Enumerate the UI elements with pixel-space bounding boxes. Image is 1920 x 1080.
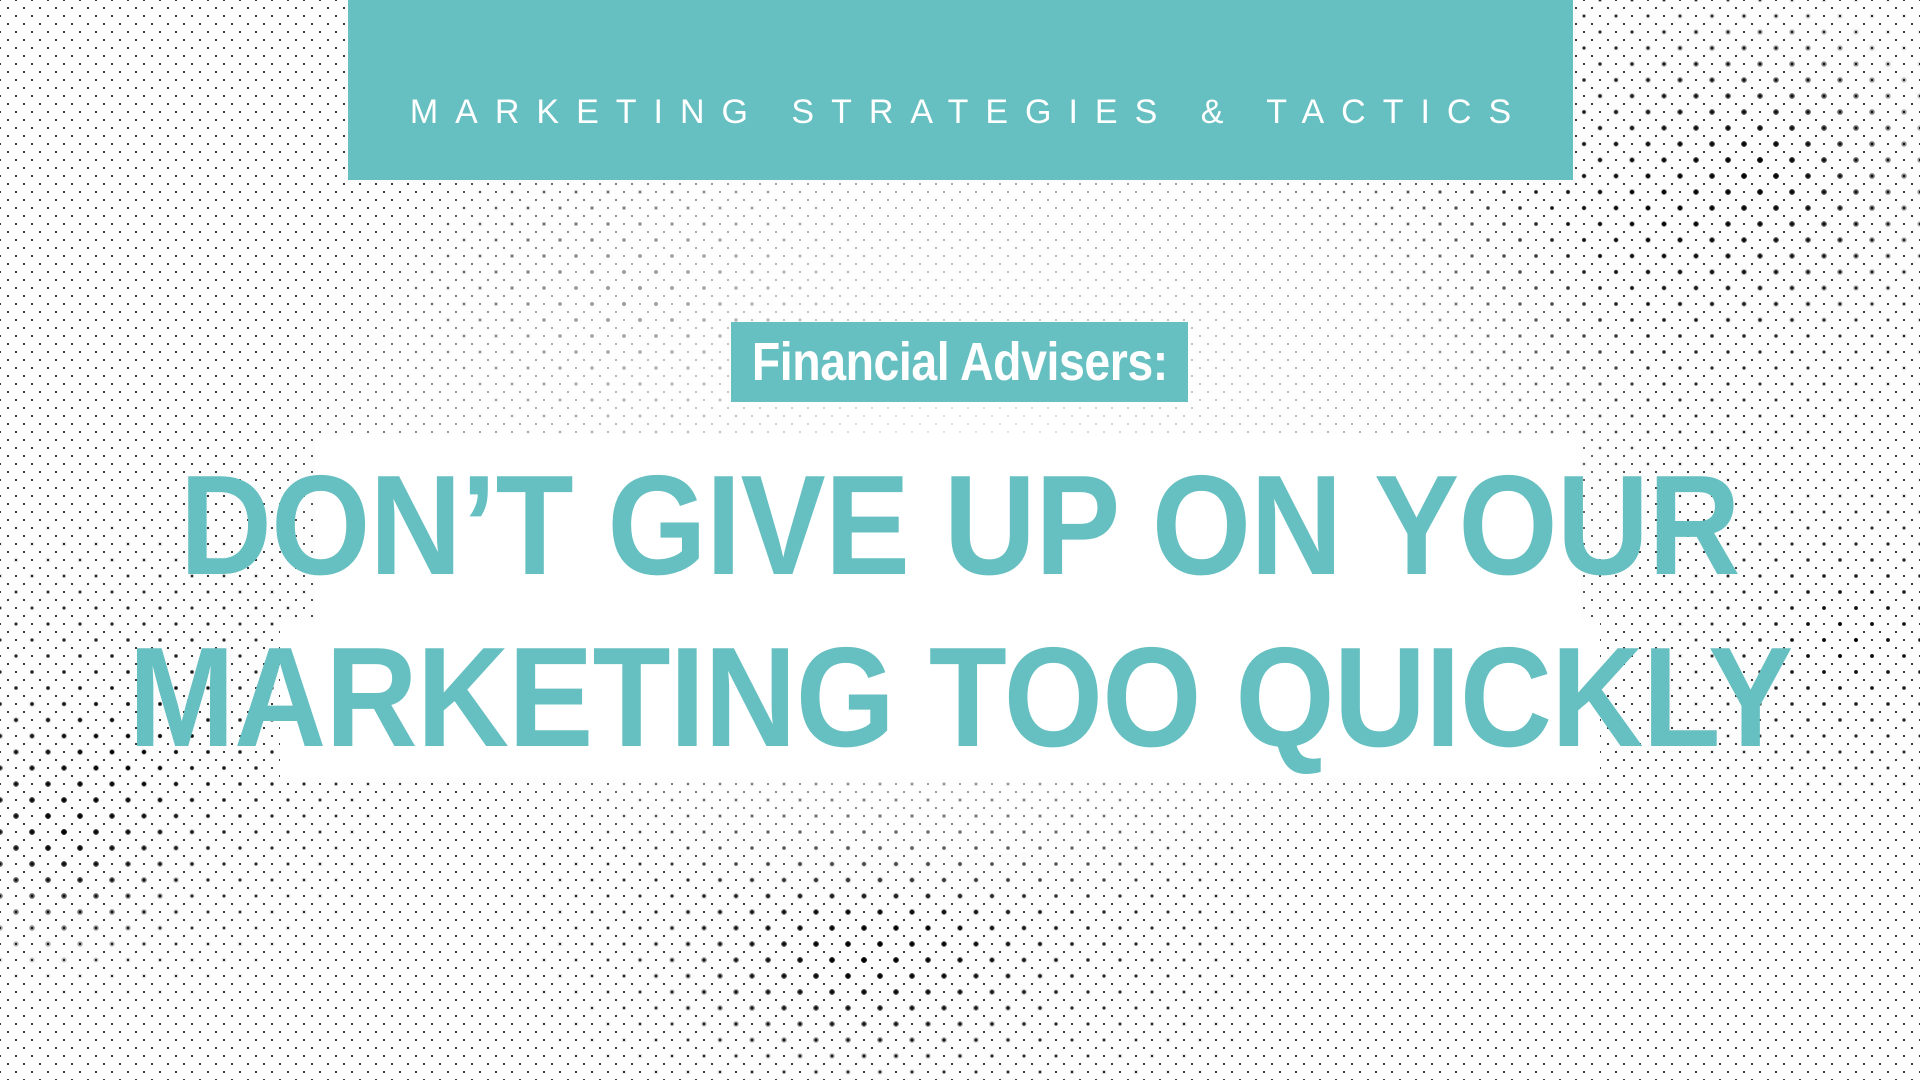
headline-line-2: MARKETING TOO QUICKLY	[0, 627, 1920, 769]
kicker-label: Financial Advisers:	[752, 331, 1168, 393]
headline-line-2-text: MARKETING TOO QUICKLY	[128, 627, 1792, 769]
headline-line-1: DON’T GIVE UP ON YOUR	[0, 455, 1920, 597]
eyebrow-banner: MARKETING STRATEGIES & TACTICS	[348, 0, 1573, 180]
eyebrow-banner-label: MARKETING STRATEGIES & TACTICS	[393, 93, 1528, 180]
headline-line-1-text: DON’T GIVE UP ON YOUR	[180, 455, 1740, 597]
kicker-chip: Financial Advisers:	[731, 322, 1188, 402]
